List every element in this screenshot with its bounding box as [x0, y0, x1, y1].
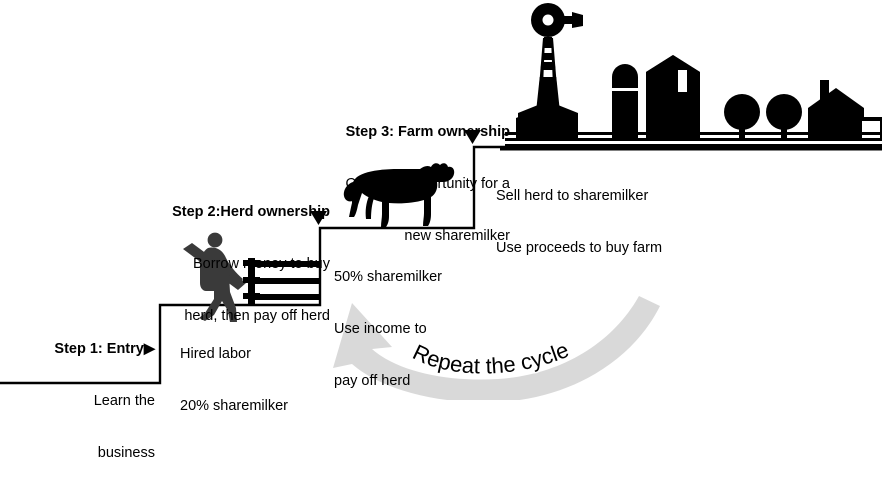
repeat-cycle-label: Repeat the cycle [409, 337, 572, 379]
diagram-canvas: Step 3: Farm ownership Open an opportuni… [0, 0, 882, 400]
step1-subtitle-line-2: business [0, 445, 155, 461]
step1-tread-line-2: 20% sharemilker [180, 398, 288, 414]
repeat-cycle-label-layer: Repeat the cycle [0, 0, 882, 400]
